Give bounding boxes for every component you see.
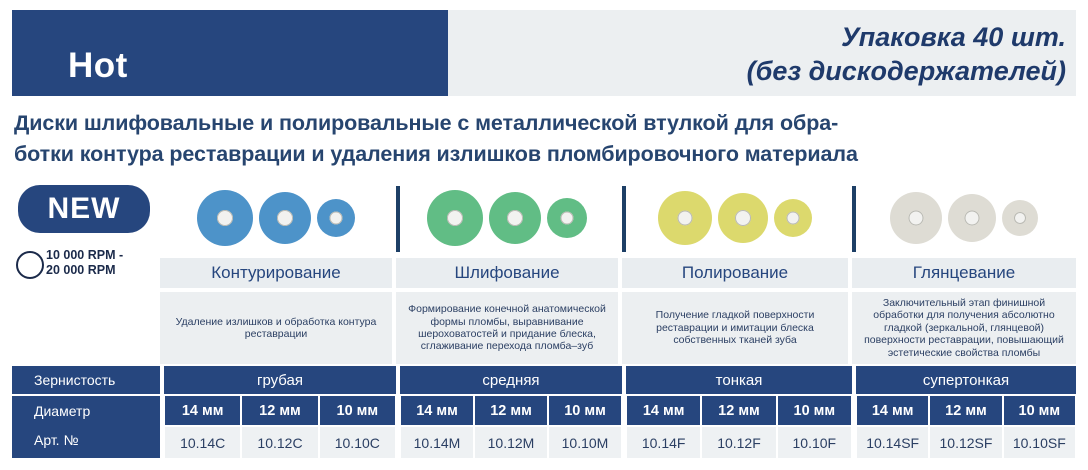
description-line2: ботки контура реставрации и удаления изл… [14, 139, 1076, 170]
disc-hub-icon [735, 210, 751, 226]
category-column: ПолированиеПолучение гладкой поверхности… [622, 182, 848, 364]
article-cell: 10.10F [778, 427, 851, 458]
disc-hub-icon [447, 210, 463, 226]
disc-hub-icon [787, 212, 800, 225]
disc-hub-icon [909, 211, 924, 226]
diameter-cell: 14 мм [165, 396, 240, 425]
description-line1: Диски шлифовальные и полировальные с мет… [14, 108, 1076, 139]
grain-cell: тонкая [626, 366, 852, 394]
disc-hub-icon [678, 211, 693, 226]
article-cell: 10.14C [165, 427, 240, 458]
row-label-article: Арт. № [34, 432, 78, 448]
category-grid: КонтурированиеУдаление излишков и обрабо… [160, 182, 1076, 364]
package-title-line1: Упаковка 40 шт. [426, 20, 1066, 54]
spec-table: Зернистость Диаметр Арт. № грубая14 мм10… [12, 366, 1076, 460]
abrasive-disc-icon [259, 192, 311, 244]
new-badge: NEW [18, 185, 150, 233]
diameter-cell: 14 мм [627, 396, 700, 425]
disc-image-group [160, 182, 392, 254]
abrasive-disc-icon [547, 198, 587, 238]
article-cell: 10.14M [401, 427, 473, 458]
category-column: ШлифованиеФормирование конечной анатомич… [396, 182, 618, 364]
product-description: Диски шлифовальные и полировальные с мет… [14, 108, 1076, 170]
category-description: Формирование конечной анатомической форм… [396, 292, 618, 364]
abrasive-disc-icon [658, 191, 712, 245]
category-description: Получение гладкой поверхности реставраци… [622, 292, 848, 364]
diameter-cell: 10 мм [320, 396, 395, 425]
disc-hub-icon [330, 212, 343, 225]
abrasive-disc-icon [489, 192, 541, 244]
diameter-cell: 12 мм [930, 396, 1001, 425]
abrasive-disc-icon [774, 199, 812, 237]
row-label-grain: Зернистость [12, 366, 160, 394]
diameter-cell: 12 мм [475, 396, 547, 425]
article-cell: 10.12C [242, 427, 317, 458]
rpm-spec: 10 000 RPM - 20 000 RPM [14, 248, 164, 278]
disc-hub-icon [217, 210, 233, 226]
grain-cell: средняя [400, 366, 622, 394]
hot-badge: Hot [12, 10, 448, 96]
disc-hub-icon [277, 210, 293, 226]
diameter-cell: 12 мм [242, 396, 317, 425]
diameter-cell: 10 мм [778, 396, 851, 425]
abrasive-disc-icon [317, 199, 355, 237]
package-title-line2: (без дискодержателей) [426, 54, 1066, 88]
article-cell: 10.12M [475, 427, 547, 458]
category-label: Глянцевание [852, 258, 1076, 288]
grain-cell: супертонкая [856, 366, 1076, 394]
disc-image-group [622, 182, 848, 254]
row-label-diameter: Диаметр [34, 403, 90, 419]
disc-hub-icon [507, 210, 523, 226]
new-badge-label: NEW [48, 192, 121, 226]
category-description: Удаление излишков и обработка контура ре… [160, 292, 392, 364]
column-divider [396, 186, 400, 252]
article-cell: 10.12F [702, 427, 775, 458]
article-cell: 10.10SF [1004, 427, 1075, 458]
diameter-cell: 12 мм [702, 396, 775, 425]
category-label: Шлифование [396, 258, 618, 288]
column-divider [852, 186, 856, 252]
hot-label: Hot [68, 46, 128, 86]
abrasive-disc-icon [1002, 200, 1038, 236]
category-column: ГлянцеваниеЗаключительный этап финишной … [852, 182, 1076, 364]
abrasive-disc-icon [948, 194, 996, 242]
article-cell: 10.10C [320, 427, 395, 458]
product-sheet: Hot Упаковка 40 шт. (без дискодержателей… [0, 0, 1088, 470]
category-column: КонтурированиеУдаление излишков и обрабо… [160, 182, 392, 364]
abrasive-disc-icon [890, 192, 942, 244]
row-label-diameter-article: Диаметр Арт. № [12, 396, 160, 458]
package-title: Упаковка 40 шт. (без дискодержателей) [426, 20, 1066, 88]
article-cell: 10.12SF [930, 427, 1001, 458]
disc-circle-icon [16, 251, 44, 279]
abrasive-disc-icon [197, 190, 253, 246]
disc-hub-icon [965, 211, 980, 226]
diameter-cell: 14 мм [401, 396, 473, 425]
diameter-cell: 10 мм [549, 396, 621, 425]
column-divider [622, 186, 626, 252]
rpm-line1: 10 000 RPM - [46, 248, 123, 262]
disc-image-group [852, 182, 1076, 254]
abrasive-disc-icon [718, 193, 768, 243]
category-description: Заключительный этап финишной обработки д… [852, 292, 1076, 364]
article-cell: 10.14SF [857, 427, 928, 458]
abrasive-disc-icon [427, 190, 483, 246]
grain-cell: грубая [164, 366, 396, 394]
diameter-cell: 10 мм [1004, 396, 1075, 425]
category-label: Контурирование [160, 258, 392, 288]
diameter-cell: 14 мм [857, 396, 928, 425]
article-cell: 10.14F [627, 427, 700, 458]
disc-image-group [396, 182, 618, 254]
article-cell: 10.10M [549, 427, 621, 458]
disc-hub-icon [1014, 212, 1026, 224]
category-label: Полирование [622, 258, 848, 288]
rpm-text: 10 000 RPM - 20 000 RPM [46, 248, 123, 278]
rpm-line2: 20 000 RPM [46, 263, 115, 277]
disc-hub-icon [561, 212, 574, 225]
